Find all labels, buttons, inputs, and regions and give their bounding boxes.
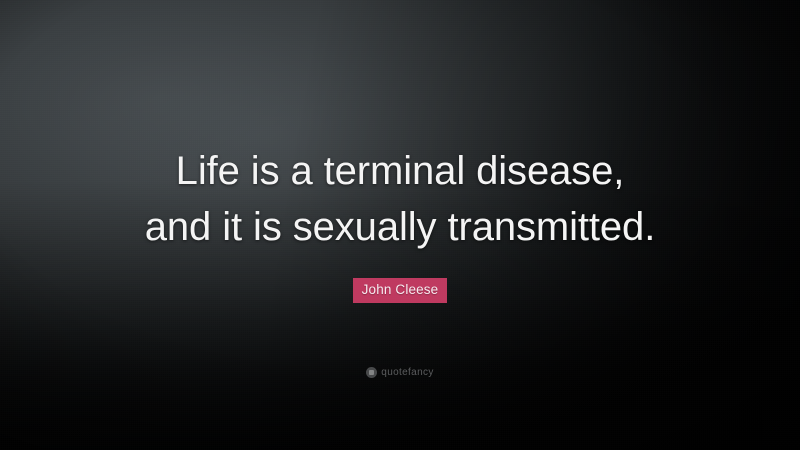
wallpaper-content: Life is a terminal disease, and it is se…	[0, 0, 800, 450]
quote-text: Life is a terminal disease, and it is se…	[0, 143, 800, 255]
quote-line-1: Life is a terminal disease,	[60, 143, 740, 199]
quotefancy-logo-icon	[366, 367, 377, 378]
quote-wallpaper: Life is a terminal disease, and it is se…	[0, 0, 800, 450]
author-attribution: John Cleese	[0, 278, 800, 303]
quote-line-2: and it is sexually transmitted.	[60, 199, 740, 255]
watermark: quotefancy	[0, 367, 800, 378]
author-name-badge: John Cleese	[353, 278, 448, 303]
watermark-brand-label: quotefancy	[381, 367, 433, 378]
